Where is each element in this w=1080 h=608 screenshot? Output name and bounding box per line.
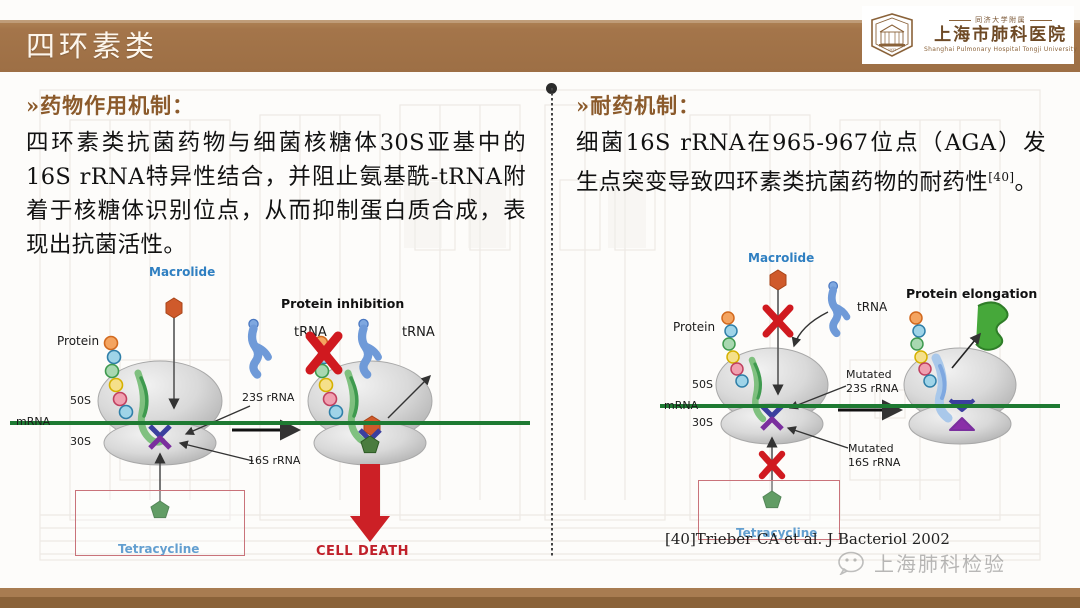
- left-section-heading: »药物作用机制：: [26, 92, 526, 120]
- logo-affiliation-line: 同济大学附属: [924, 16, 1077, 25]
- right-label-protein: Protein: [673, 320, 715, 334]
- left-label-mrna: mRNA: [16, 415, 50, 428]
- hospital-crest-icon: 1933: [868, 12, 916, 58]
- citation-text: [40]Trieber CA et al. J Bacteriol 2002: [665, 530, 950, 548]
- hospital-logo: 1933 同济大学附属 上海市肺科医院 Shanghai Pulmonary H…: [862, 6, 1074, 64]
- right-label-mrna: mRNA: [664, 399, 698, 412]
- right-label-mutated-16s-line2: 16S rRNA: [848, 456, 900, 469]
- right-label-protein-elongation: Protein elongation: [906, 286, 1037, 301]
- footer-light-band: [0, 588, 1080, 597]
- right-label-mutated-16s-line1: Mutated: [848, 442, 894, 455]
- left-label-protein: Protein: [57, 334, 99, 348]
- left-label-macrolide: Macrolide: [149, 265, 215, 279]
- logo-name-cn: 上海市肺科医院: [924, 25, 1077, 45]
- wechat-label: 上海肺科检验: [874, 548, 1006, 577]
- logo-affiliation: 同济大学附属: [975, 16, 1026, 24]
- page-title: 四环素类: [26, 24, 158, 68]
- left-label-30s: 30S: [70, 435, 91, 448]
- svg-text:tRNA: tRNA: [402, 325, 435, 340]
- right-column: »耐药机制： 细菌16S rRNA在965-967位点（AGA）发生点突变导致四…: [576, 92, 1046, 200]
- right-label-trna: tRNA: [857, 300, 887, 314]
- reference-marker: [40]: [988, 170, 1014, 184]
- left-column: »药物作用机制： 四环素类抗菌药物与细菌核糖体30S亚基中的16S rRNA特异…: [26, 92, 526, 262]
- right-body-main: 细菌16S rRNA在965-967位点（AGA）发生点突变导致四环素类抗菌药物…: [576, 130, 1046, 196]
- right-label-50s: 50S: [692, 378, 713, 391]
- right-body-tail: 。: [1014, 170, 1037, 196]
- left-label-23s-rrna: 23S rRNA: [242, 391, 294, 404]
- left-label-50s: 50S: [70, 394, 91, 407]
- left-label-16s-rrna: 16S rRNA: [248, 454, 300, 467]
- right-section-body: 细菌16S rRNA在965-967位点（AGA）发生点突变导致四环素类抗菌药物…: [576, 126, 1046, 200]
- left-tetracycline-box: [75, 490, 245, 556]
- footer-dark-band: [0, 597, 1080, 608]
- right-section-heading: »耐药机制：: [576, 92, 1046, 120]
- left-label-cell-death: CELL DEATH: [316, 544, 409, 559]
- right-diagram: Macrolide Protein elongation tRNA Protei…: [660, 248, 1060, 538]
- left-section-body: 四环素类抗菌药物与细菌核糖体30S亚基中的16S rRNA特异性结合，并阻止氨基…: [26, 126, 526, 262]
- logo-name-en: Shanghai Pulmonary Hospital Tongji Unive…: [924, 45, 1077, 54]
- svg-text:1933: 1933: [888, 48, 896, 52]
- right-label-30s: 30S: [692, 416, 713, 429]
- wechat-watermark: 上海肺科检验: [838, 548, 1006, 577]
- right-label-mutated-23s-line1: Mutated: [846, 368, 892, 381]
- right-label-macrolide: Macrolide: [748, 251, 814, 265]
- column-divider: [551, 88, 553, 556]
- left-label-protein-inhibition: Protein inhibition: [281, 296, 404, 311]
- wechat-bubble-icon: [838, 551, 868, 575]
- slide-canvas: 四环素类 1933 同济大学附属 上海市肺科医院 Shanghai Pulmon…: [0, 0, 1080, 608]
- right-label-mutated-23s-line2: 23S rRNA: [846, 382, 898, 395]
- left-diagram: tRNA: [10, 258, 530, 568]
